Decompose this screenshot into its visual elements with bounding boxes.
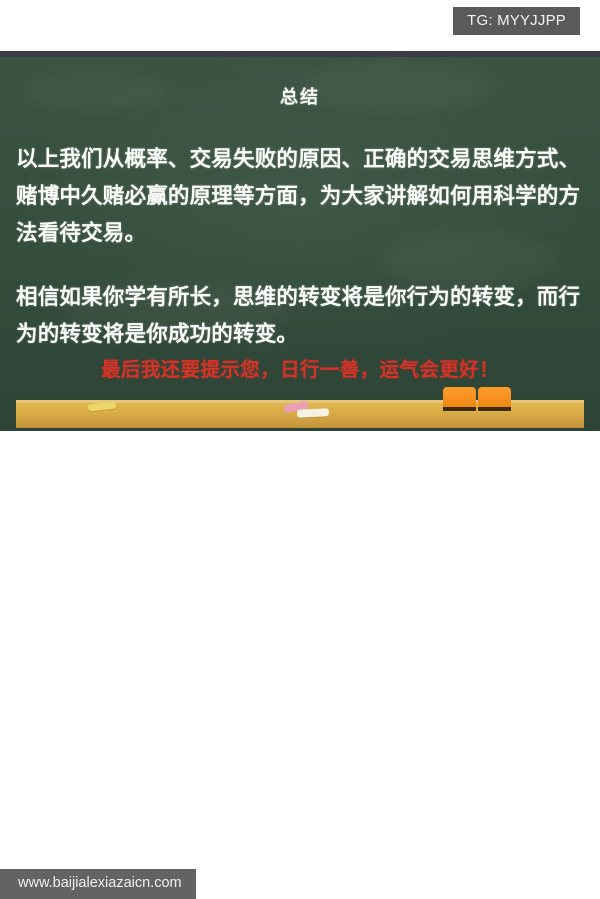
- left-eraser-icon: [443, 387, 476, 411]
- header-bar: TG: MYYJJPP: [0, 0, 600, 51]
- summary-paragraph-2: 相信如果你学有所长，思维的转变将是你行为的转变，而行为的转变将是你成功的转变。: [16, 279, 586, 353]
- right-eraser-icon: [478, 387, 511, 411]
- footer-bar: www.baijialexiazaicn.com: [0, 431, 600, 480]
- chalkboard-top-rail: [0, 51, 600, 57]
- chalkboard: 总结 以上我们从概率、交易失败的原因、正确的交易思维方式、赌博中久赌必赢的原理等…: [0, 51, 600, 431]
- white-chalk-icon: [297, 408, 329, 418]
- lesson-title: 总结: [0, 83, 600, 109]
- site-watermark: www.baijialexiazaicn.com: [0, 869, 196, 899]
- closing-reminder-text: 最后我还要提示您，日行一善，运气会更好！: [0, 353, 600, 382]
- telegram-handle-badge: TG: MYYJJPP: [453, 7, 580, 35]
- summary-paragraph-1: 以上我们从概率、交易失败的原因、正确的交易思维方式、赌博中久赌必赢的原理等方面，…: [16, 141, 586, 252]
